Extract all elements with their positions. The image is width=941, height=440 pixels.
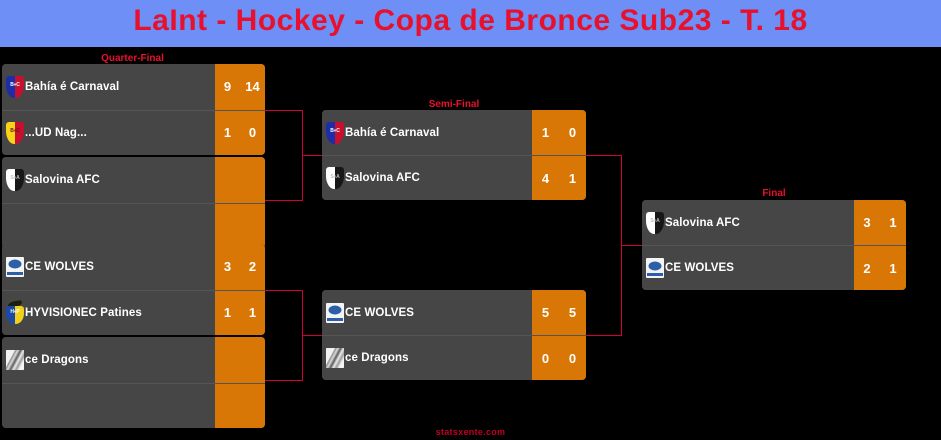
match-row[interactable]: S«A Salovina AFC 4 1	[322, 155, 586, 200]
match-row-empty[interactable]	[2, 203, 265, 249]
crest-salovina-afc-icon: S«A	[646, 212, 664, 234]
score-value: 1	[532, 125, 559, 140]
score-value: 3	[215, 259, 240, 274]
team-entry[interactable]: B«C Bahía é Carnaval	[322, 110, 532, 155]
connector	[265, 290, 303, 291]
match-row[interactable]: H«P HYVISIONEC Patines 1 1	[2, 290, 265, 336]
match-final[interactable]: S«A Salovina AFC 3 1 CE WOLVES	[642, 200, 906, 290]
team-entry[interactable]: B«C Bahía é Carnaval	[2, 64, 215, 110]
team-entry[interactable]: S«A Salovina AFC	[642, 200, 854, 245]
match-row[interactable]: B«C Bahía é Carnaval 1 0	[322, 110, 586, 155]
score-value: 1	[880, 215, 906, 230]
team-name: Bahía é Carnaval	[345, 127, 439, 139]
score-value: 1	[880, 261, 906, 276]
match-row[interactable]: CE WOLVES 3 2	[2, 244, 265, 290]
crest-salovina-afc-icon: S«A	[326, 167, 344, 189]
crest-hyvisionec-patines-icon: H«P	[6, 302, 24, 324]
score-value: 5	[532, 305, 559, 320]
score-value: 4	[532, 171, 559, 186]
team-name: CE WOLVES	[25, 261, 94, 273]
team-name: Salovina AFC	[25, 174, 100, 186]
crest-ce-wolves-icon	[646, 257, 664, 279]
round-label-semi-final: Semi-Final	[322, 99, 586, 110]
score-cell: 1 0	[532, 110, 586, 155]
match-quarter-final-4[interactable]: ce Dragons	[2, 337, 265, 428]
connector	[265, 380, 303, 381]
score-cell	[215, 384, 265, 429]
score-value: 0	[532, 351, 559, 366]
score-cell: 1 0	[215, 111, 265, 156]
score-cell: 9 14	[215, 64, 265, 110]
match-row[interactable]: ce Dragons 0 0	[322, 335, 586, 380]
round-label-quarter-final: Quarter-Final	[0, 53, 265, 64]
score-value: 1	[215, 305, 240, 320]
crest-ce-wolves-icon	[326, 302, 344, 324]
crest-bahia-e-carnaval-icon: B«C	[6, 76, 24, 98]
match-row[interactable]: B«C ...UD Nag... 1 0	[2, 110, 265, 156]
connector	[302, 335, 324, 336]
team-name: Salovina AFC	[345, 172, 420, 184]
score-value: 3	[854, 215, 880, 230]
score-cell	[215, 204, 265, 249]
crest-ce-wolves-icon	[6, 256, 24, 278]
match-row[interactable]: S«A Salovina AFC	[2, 157, 265, 203]
score-cell: 2 1	[854, 246, 906, 290]
match-row[interactable]: CE WOLVES 2 1	[642, 245, 906, 290]
crest-salovina-afc-icon: S«A	[6, 169, 24, 191]
team-name: ...UD Nag...	[25, 127, 87, 139]
score-cell: 1 1	[215, 291, 265, 336]
match-row[interactable]: B«C Bahía é Carnaval 9 14	[2, 64, 265, 110]
score-cell: 5 5	[532, 290, 586, 335]
match-quarter-final-3[interactable]: CE WOLVES 3 2 H«P HYVISIONEC Patines	[2, 244, 265, 335]
match-row[interactable]: ce Dragons	[2, 337, 265, 383]
crest-ice-dragons-icon	[326, 347, 344, 369]
team-entry[interactable]: ce Dragons	[2, 337, 215, 383]
connector	[265, 200, 303, 201]
team-name: Bahía é Carnaval	[25, 81, 119, 93]
score-cell: 4 1	[532, 156, 586, 200]
score-value: 1	[240, 305, 265, 320]
crest-ice-dragons-icon	[6, 349, 24, 371]
team-entry[interactable]: S«A Salovina AFC	[2, 157, 215, 203]
team-name: CE WOLVES	[345, 307, 414, 319]
score-value: 1	[559, 171, 586, 186]
score-value: 9	[215, 79, 240, 94]
team-entry[interactable]: S«A Salovina AFC	[322, 156, 532, 200]
score-value: 1	[215, 125, 240, 140]
connector	[586, 155, 622, 156]
match-semi-final-1[interactable]: B«C Bahía é Carnaval 1 0 S«A Sal	[322, 110, 586, 200]
team-entry[interactable]: CE WOLVES	[2, 244, 215, 290]
team-entry[interactable]: B«C ...UD Nag...	[2, 111, 215, 156]
score-cell	[215, 337, 265, 383]
team-name: HYVISIONEC Patines	[25, 307, 142, 319]
match-semi-final-2[interactable]: CE WOLVES 5 5 ce Dragons 0 0	[322, 290, 586, 380]
score-cell: 0 0	[532, 336, 586, 380]
connector	[302, 155, 324, 156]
score-value: 2	[854, 261, 880, 276]
team-name: Salovina AFC	[665, 217, 740, 229]
score-value: 0	[240, 125, 265, 140]
team-entry-empty	[2, 384, 215, 429]
team-entry[interactable]: H«P HYVISIONEC Patines	[2, 291, 215, 336]
match-quarter-final-2[interactable]: S«A Salovina AFC	[2, 157, 265, 248]
team-entry-empty	[2, 204, 215, 249]
bracket-page: LaInt - Hockey - Copa de Bronce Sub23 - …	[0, 0, 941, 440]
score-value: 5	[559, 305, 586, 320]
team-name: CE WOLVES	[665, 262, 734, 274]
site-watermark: statsxente.com	[0, 427, 941, 437]
score-cell	[215, 157, 265, 203]
team-entry[interactable]: CE WOLVES	[322, 290, 532, 335]
page-title: LaInt - Hockey - Copa de Bronce Sub23 - …	[0, 4, 941, 38]
match-row[interactable]: CE WOLVES 5 5	[322, 290, 586, 335]
round-label-final: Final	[642, 188, 906, 199]
team-name: ce Dragons	[345, 352, 409, 364]
crest-bahia-e-carnaval-icon: B«C	[326, 122, 344, 144]
score-value: 2	[240, 259, 265, 274]
connector	[265, 110, 303, 111]
match-row-empty[interactable]	[2, 383, 265, 429]
team-entry[interactable]: ce Dragons	[322, 336, 532, 380]
team-entry[interactable]: CE WOLVES	[642, 246, 854, 290]
score-cell: 3 2	[215, 244, 265, 290]
crest-ud-nag-icon: B«C	[6, 122, 24, 144]
score-cell: 3 1	[854, 200, 906, 245]
match-quarter-final-1[interactable]: B«C Bahía é Carnaval 9 14 B«C ..	[2, 64, 265, 155]
connector	[586, 335, 622, 336]
match-row[interactable]: S«A Salovina AFC 3 1	[642, 200, 906, 245]
score-value: 0	[559, 351, 586, 366]
connector	[621, 245, 643, 246]
score-value: 0	[559, 125, 586, 140]
score-value: 14	[240, 79, 265, 94]
team-name: ce Dragons	[25, 354, 89, 366]
